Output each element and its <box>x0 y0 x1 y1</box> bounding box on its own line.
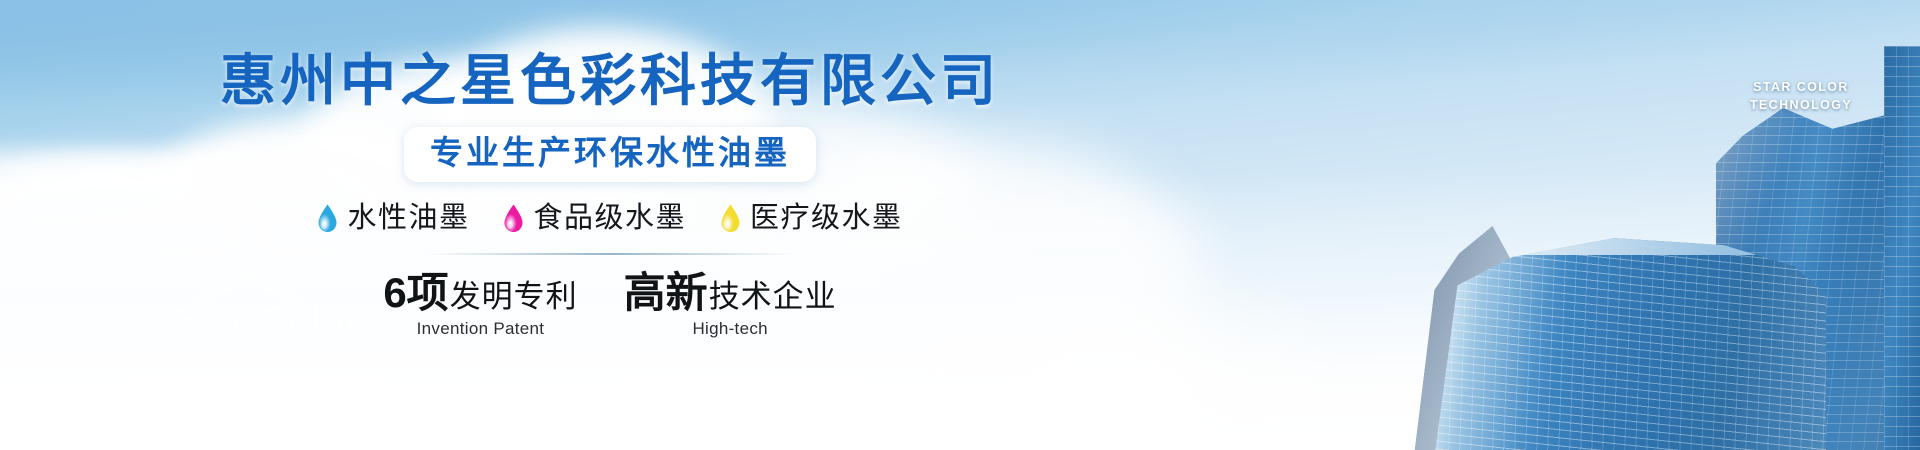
credentials-list: 6项发明专利Invention Patent高新技术企业High-tech <box>383 271 836 339</box>
credential-item: 高新技术企业High-tech <box>624 271 837 339</box>
subtitle-pill: 专业生产环保水性油墨 <box>404 127 816 182</box>
product-label: 水性油墨 <box>347 204 469 233</box>
water-based-ink-droplet <box>317 204 338 233</box>
banner-content: 惠州中之星色彩科技有限公司 专业生产环保水性油墨 水性油墨食品级水墨医疗级水墨 … <box>0 0 1220 450</box>
credential-highlight: 高新 <box>624 271 708 315</box>
product-item: 水性油墨 <box>317 204 469 233</box>
credential-highlight: 6项 <box>383 271 448 315</box>
skyscraper-group: STAR COLOR TECHNOLOGY <box>1160 0 1920 450</box>
building-logo-line-2: TECHNOLOGY <box>1726 96 1876 114</box>
credential-main-text: 高新技术企业 <box>624 271 837 315</box>
company-banner: STAR COLOR TECHNOLOGY Star Color 惠州中之星色彩… <box>0 0 1920 450</box>
credential-item: 6项发明专利Invention Patent <box>383 271 577 339</box>
credential-english: Invention Patent <box>417 319 545 339</box>
credential-rest: 技术企业 <box>709 281 837 313</box>
product-item: 医疗级水墨 <box>720 204 903 233</box>
food-grade-ink-droplet <box>503 204 524 233</box>
far-right-tower <box>1884 46 1920 450</box>
credential-english: High-tech <box>692 319 767 339</box>
section-divider <box>426 253 794 255</box>
product-list: 水性油墨食品级水墨医疗级水墨 <box>317 204 902 233</box>
product-item: 食品级水墨 <box>503 204 686 233</box>
credential-rest: 发明专利 <box>450 281 578 313</box>
far-right-tower-window-grid <box>1884 46 1920 450</box>
credential-main-text: 6项发明专利 <box>383 271 577 315</box>
product-label: 食品级水墨 <box>533 204 686 233</box>
company-title: 惠州中之星色彩科技有限公司 <box>220 53 1000 109</box>
medical-grade-ink-droplet <box>720 204 741 233</box>
product-label: 医疗级水墨 <box>750 204 903 233</box>
building-logo-text: STAR COLOR TECHNOLOGY <box>1726 78 1876 114</box>
building-logo-line-1: STAR COLOR <box>1726 78 1876 96</box>
